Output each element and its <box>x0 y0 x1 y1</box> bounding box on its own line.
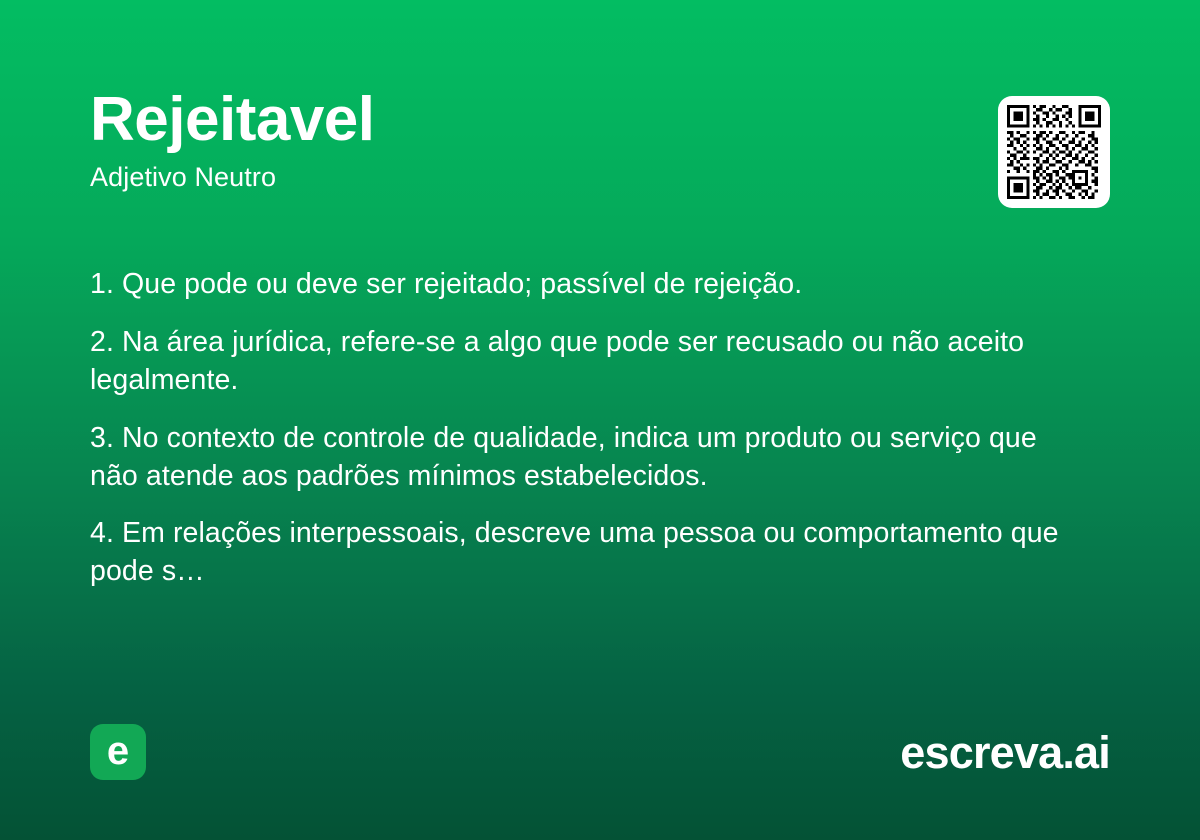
heading-group: Rejeitavel Adjetivo Neutro <box>90 88 375 193</box>
definition-item: 3. No contexto de controle de qualidade,… <box>90 420 1090 496</box>
escreva-logo-icon: e <box>90 724 146 780</box>
definition-item: 2. Na área jurídica, refere-se a algo qu… <box>90 324 1090 400</box>
card-header: Rejeitavel Adjetivo Neutro <box>90 88 1110 208</box>
qr-code-icon[interactable] <box>998 96 1110 208</box>
brand-wordmark: escreva.ai <box>900 730 1110 775</box>
definition-item: 1. Que pode ou deve ser rejeitado; passí… <box>90 266 1090 304</box>
definition-list: 1. Que pode ou deve ser rejeitado; passí… <box>90 266 1090 591</box>
definition-card: Rejeitavel Adjetivo Neutro <box>0 0 1200 840</box>
logo-letter: e <box>107 731 129 771</box>
word-class-label: Adjetivo Neutro <box>90 163 375 193</box>
card-footer: e escreva.ai <box>90 724 1110 780</box>
definition-item: 4. Em relações interpessoais, descreve u… <box>90 515 1090 591</box>
word-title: Rejeitavel <box>90 88 375 151</box>
